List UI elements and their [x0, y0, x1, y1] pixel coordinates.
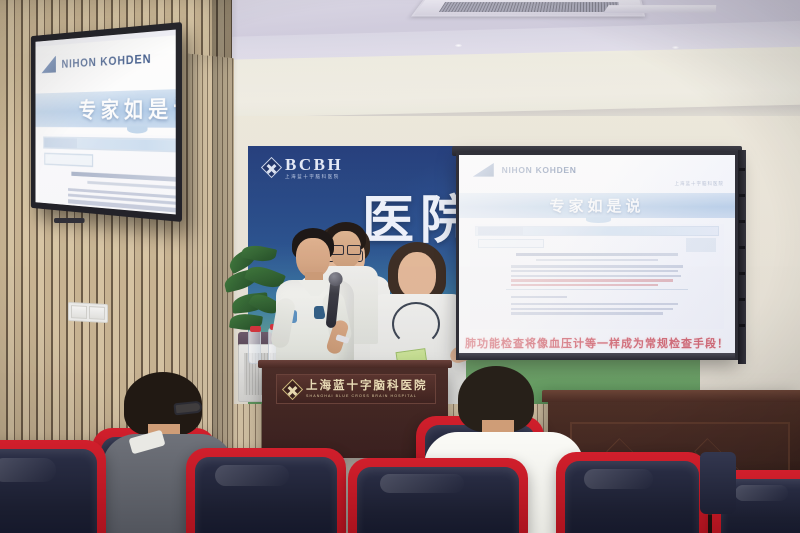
bcbh-logo-subtext: 上海蓝十字脑科医院 [285, 175, 343, 180]
bcbh-logo: BCBH 上海蓝十字脑科医院 [264, 156, 343, 180]
slide-title-tab [127, 125, 148, 133]
slide-body [39, 134, 175, 215]
wall-mounted-television: NIHON KOHDEN 上海蓝十字脑科医院 专家如是说 [31, 22, 182, 222]
slide-title: 专家如是说 [549, 195, 644, 216]
lectern-plaque: 上海蓝十字脑科医院 SHANGHAI BLUE CROSS BRAIN HOSP… [276, 374, 436, 404]
auditorium-seat[interactable] [556, 452, 708, 533]
auditorium-seat[interactable] [348, 458, 528, 533]
webpage-logo-placeholder [45, 137, 78, 149]
slide-footer-note: 肺功能检查将像血压计等一样成为常规检查手段！ [459, 335, 735, 351]
slide-body [470, 224, 724, 329]
switch-plate-right[interactable] [89, 306, 105, 320]
ac-grille [439, 2, 620, 12]
slide-projected: NIHON KOHDEN 上海蓝十字脑科医院 专家如是说 [459, 155, 735, 353]
projection-screen-surface: NIHON KOHDEN 上海蓝十字脑科医院 专家如是说 [459, 155, 735, 353]
hospital-name-en: SHANGHAI BLUE CROSS BRAIN HOSPITAL [306, 394, 428, 398]
ac-vent-secondary [603, 5, 716, 13]
stethoscope-icon [392, 302, 440, 346]
water-bottle [248, 330, 261, 364]
seat-back [195, 457, 337, 533]
bcbh-logo-text: BCBH [285, 156, 343, 173]
article-subtitle-line [536, 259, 658, 261]
article-subtitle-line [87, 180, 176, 190]
webpage-logo-placeholder [478, 227, 524, 235]
light-switch-panel[interactable] [68, 302, 108, 323]
seat-back [357, 467, 519, 533]
auditorium-seat[interactable] [0, 440, 106, 533]
tv-screen: NIHON KOHDEN 上海蓝十字脑科医院 专家如是说 [35, 30, 175, 215]
nihon-kohden-logo-icon [41, 55, 56, 73]
presentation-room-photo: BCBH 上海蓝十字脑科医院 医院 动 [0, 0, 800, 533]
auditorium-seat[interactable] [186, 448, 346, 533]
slide-title-bar: 专家如是说 [35, 87, 175, 127]
downlight-icon [455, 44, 462, 47]
doctor-head [398, 252, 436, 298]
slide-brand-name: NIHON KOHDEN [62, 51, 152, 71]
desk-top-surface [542, 390, 800, 402]
slide-brand-name: NIHON KOHDEN [502, 165, 577, 175]
projection-screen-weight-bar [459, 353, 735, 359]
blue-cross-emblem-icon [282, 378, 303, 399]
tv-stand [54, 218, 85, 223]
bcbh-cross-logo-icon [261, 157, 282, 178]
slide-title-bar: 专家如是说 [459, 193, 735, 219]
seat-armrest[interactable] [700, 452, 736, 514]
hospital-name-cn: 上海蓝十字脑科医院 [306, 380, 428, 393]
primary-speaker-person [274, 228, 358, 378]
seat-back [0, 449, 97, 533]
seat-back [565, 461, 699, 533]
nihon-kohden-logo-icon [473, 163, 494, 177]
slide-title-tab [586, 217, 611, 223]
slide-title: 专家如是说 [79, 91, 176, 124]
bottle-cap [250, 326, 261, 332]
webpage-searchbox-placeholder [45, 153, 93, 167]
webpage-sidebar-placeholder [686, 238, 716, 252]
projection-screen-rail [738, 150, 746, 364]
slide-on-tv: NIHON KOHDEN 上海蓝十字脑科医院 专家如是说 [35, 30, 175, 215]
lectern-top-edge [258, 360, 452, 368]
webpage-searchbox-placeholder [478, 239, 544, 248]
article-title-line [516, 253, 679, 257]
slide-dateline: 上海蓝十字脑科医院 [674, 181, 724, 187]
switch-plate-left[interactable] [71, 305, 87, 319]
slide-header: NIHON KOHDEN [35, 30, 175, 85]
projection-screen: NIHON KOHDEN 上海蓝十字脑科医院 专家如是说 [456, 152, 738, 360]
